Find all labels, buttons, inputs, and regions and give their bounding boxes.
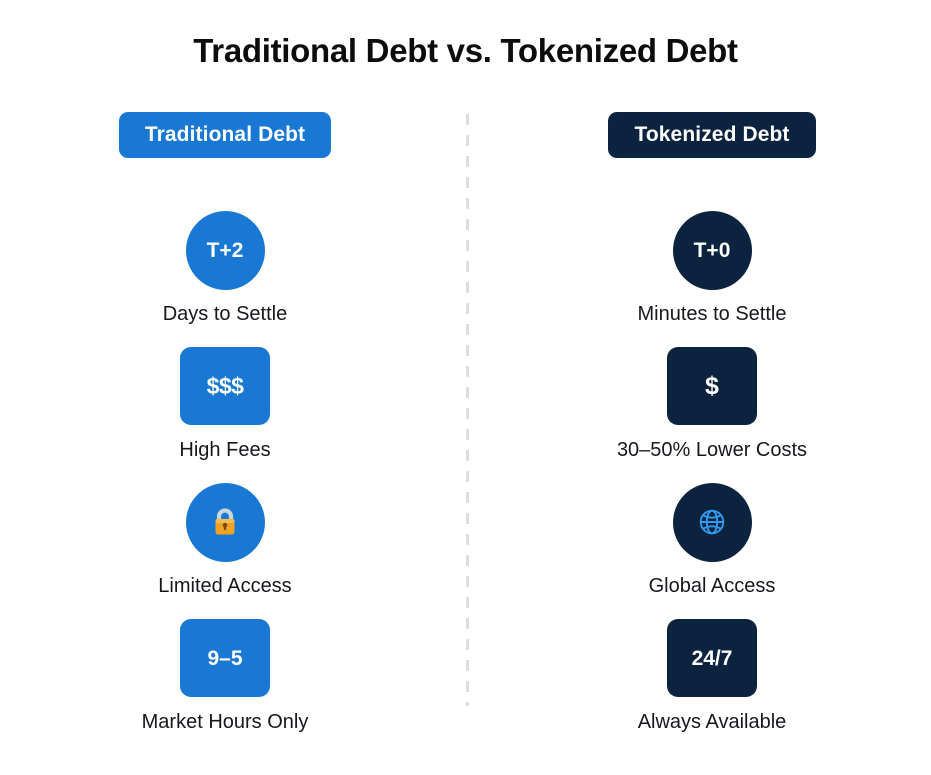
page-title: Traditional Debt vs. Tokenized Debt [0,32,931,70]
column-divider [466,114,469,706]
column-header-traditional[interactable]: Traditional Debt [119,112,331,158]
always-on-icon: 24/7 [667,619,757,697]
list-item: 24/7 Always Available [522,618,902,754]
globe-icon [696,506,728,538]
market-hours-icon: 9–5 [180,619,270,697]
list-item-label: 30–50% Lower Costs [617,439,807,462]
shape-value: T+0 [694,240,731,261]
icon-slot: 9–5 [180,618,270,698]
settlement-time-badge-icon: T+2 [186,211,265,290]
icon-slot: $$$ [180,346,270,426]
list-item: Global Access [522,482,902,618]
list-item: $ 30–50% Lower Costs [522,346,902,482]
shape-value: T+2 [207,240,244,261]
list-item-label: High Fees [179,439,270,462]
list-item-label: Days to Settle [163,303,288,326]
globe-icon-container [673,483,752,562]
column-traditional: Traditional Debt T+2 Days to Settle $$$ [35,112,415,754]
list-item-label: Global Access [649,575,776,598]
icon-slot: $ [667,346,757,426]
column-header-tokenized[interactable]: Tokenized Debt [608,112,815,158]
shape-value: $ [705,374,719,399]
shape-value: $$$ [207,375,244,398]
infographic-canvas: Traditional Debt vs. Tokenized Debt Trad… [0,0,931,775]
money-single-icon: $ [667,347,757,425]
icon-slot: T+2 [186,210,265,290]
list-item: T+0 Minutes to Settle [522,210,902,346]
shape-value: 9–5 [207,648,242,669]
icon-slot [186,482,265,562]
list-item-label: Minutes to Settle [638,303,787,326]
icon-slot: 24/7 [667,618,757,698]
list-item: $$$ High Fees [35,346,415,482]
list-item: 9–5 Market Hours Only [35,618,415,754]
lock-icon [210,506,240,538]
list-item-label: Limited Access [158,575,291,598]
settlement-time-badge-icon: T+0 [673,211,752,290]
row-list-tokenized: T+0 Minutes to Settle $ 30–50% Lower Cos… [522,210,902,754]
shape-value: 24/7 [692,648,733,669]
list-item-label: Always Available [638,711,787,734]
column-tokenized: Tokenized Debt T+0 Minutes to Settle $ [522,112,902,754]
row-list-traditional: T+2 Days to Settle $$$ High Fees [35,210,415,754]
list-item: Limited Access [35,482,415,618]
icon-slot [673,482,752,562]
icon-slot: T+0 [673,210,752,290]
money-stack-icon: $$$ [180,347,270,425]
list-item: T+2 Days to Settle [35,210,415,346]
list-item-label: Market Hours Only [142,711,309,734]
lock-icon-container [186,483,265,562]
